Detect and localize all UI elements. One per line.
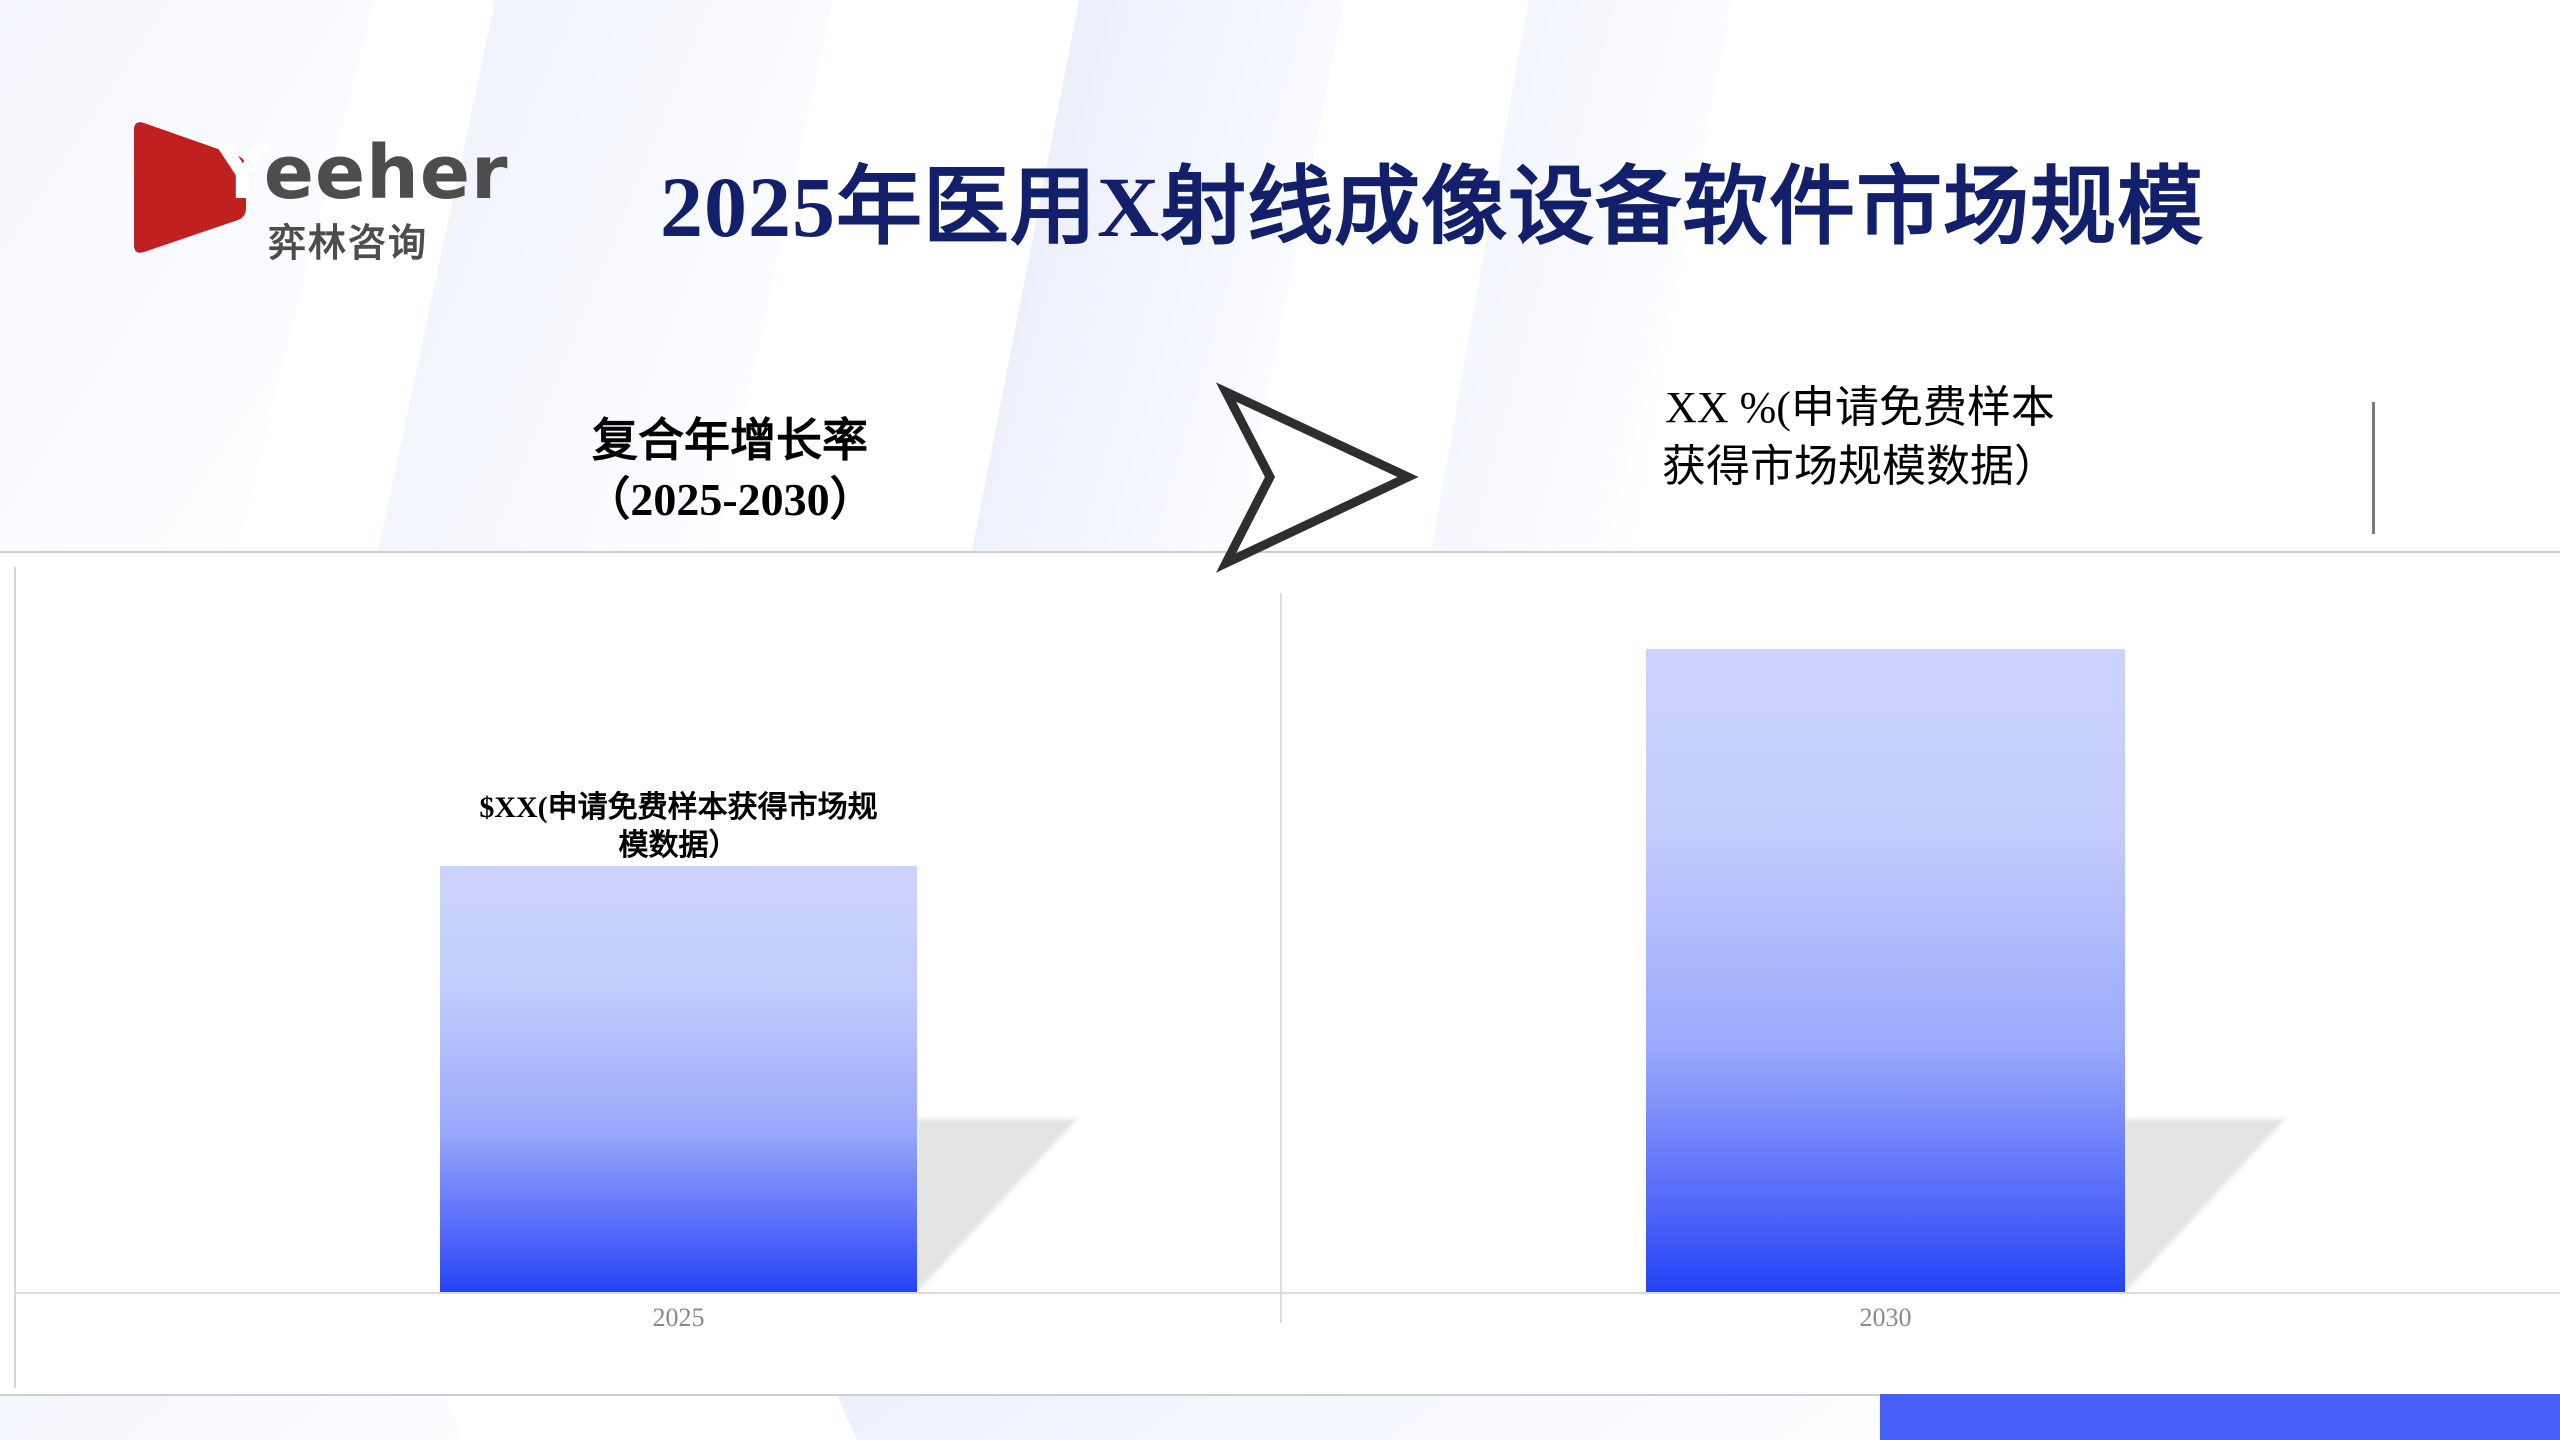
cagr-label-line1: 复合年增长率: [520, 412, 940, 471]
bar-2025[interactable]: [440, 866, 917, 1292]
brand-wordmark: Yeeher: [216, 136, 509, 210]
bar-2030[interactable]: [1646, 649, 2125, 1292]
cagr-label: 复合年增长率 （2025-2030）: [520, 412, 940, 530]
column-divider: [1280, 593, 1282, 1323]
vertical-divider: [2372, 402, 2375, 534]
chart-panel: $XX(申请免费样本获得市场规 模数据） 2025 2030: [0, 551, 2560, 1396]
bar-shadow-2025: [917, 1119, 1077, 1292]
bar-label-2025: $XX(申请免费样本获得市场规 模数据）: [440, 789, 917, 864]
bar-label-2025-line2: 模数据）: [440, 827, 917, 865]
brand-name-cn: 弈林咨询: [268, 212, 428, 267]
background-swoosh-4: [1427, 0, 1832, 608]
tick-label-2030: 2030: [1646, 1303, 2125, 1333]
brand-logo: Yeeher 弈林咨询: [128, 108, 488, 268]
footer-accent-bar: [1880, 1394, 2560, 1440]
cagr-value: XX %(申请免费样本 获得市场规模数据）: [1600, 378, 2120, 497]
brand-name-rest: eeher: [264, 130, 509, 216]
arrow-right-icon: [1212, 380, 1432, 575]
brand-initial: Y: [216, 130, 264, 216]
cagr-value-line1: XX %(申请免费样本: [1600, 378, 2120, 437]
x-axis-line: [14, 1292, 2560, 1294]
cagr-label-line2: （2025-2030）: [520, 471, 940, 530]
bar-label-2025-line1: $XX(申请免费样本获得市场规: [440, 789, 917, 827]
page-title: 2025年医用X射线成像设备软件市场规模: [660, 160, 2460, 255]
cagr-value-line2: 获得市场规模数据）: [1600, 437, 2120, 496]
tick-label-2025: 2025: [440, 1303, 917, 1333]
bar-shadow-2030: [2125, 1119, 2285, 1292]
